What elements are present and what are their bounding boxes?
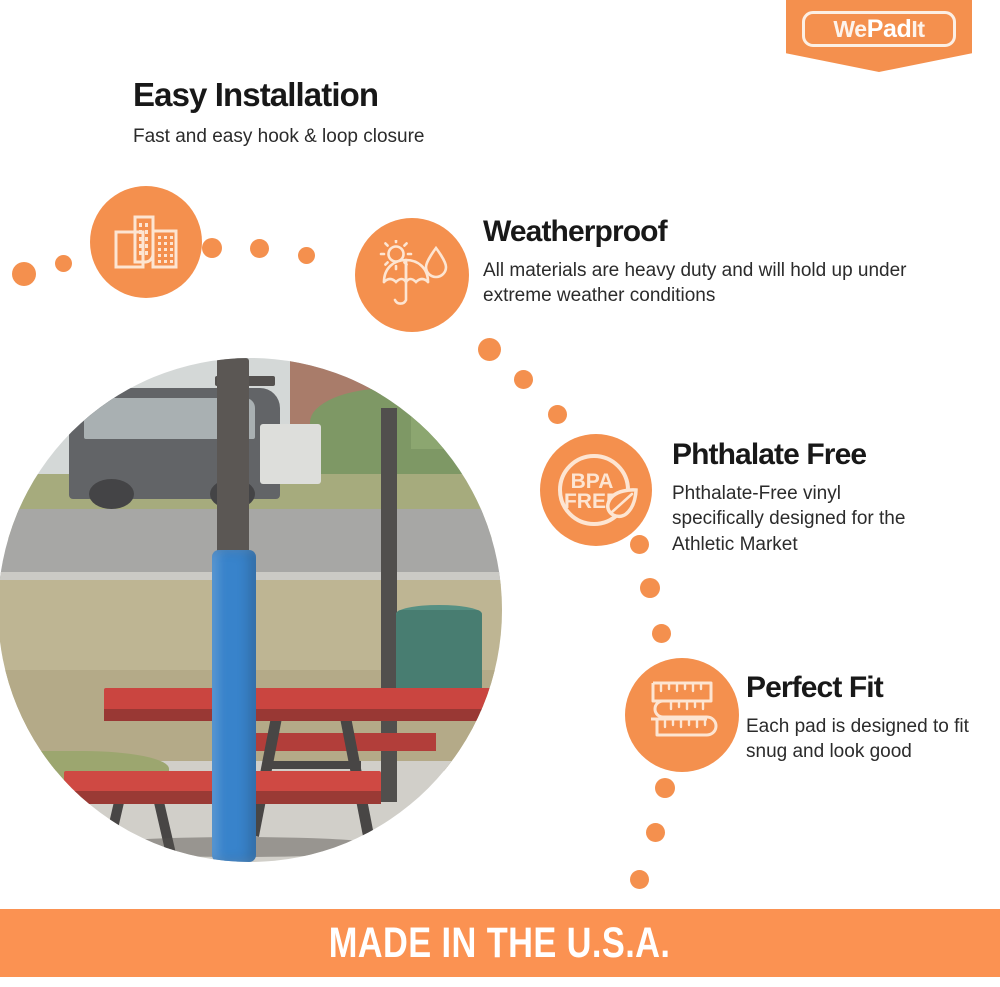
trail-dot bbox=[55, 255, 72, 272]
feature-body-weatherproof: All materials are heavy duty and will ho… bbox=[483, 258, 913, 309]
logo-wordmark: WePadIt bbox=[833, 17, 924, 42]
feature-icon-circle-weatherproof bbox=[355, 218, 469, 332]
trail-dot bbox=[655, 778, 675, 798]
trail-dot bbox=[548, 405, 567, 424]
feature-body-phthalate-free: Phthalate-Free vinyl specifically design… bbox=[672, 481, 937, 557]
infographic-page: WePadIt Easy Installation Fast and easy … bbox=[0, 0, 1000, 987]
trail-dot bbox=[202, 238, 222, 258]
trail-dot bbox=[652, 624, 671, 643]
trail-dot bbox=[630, 870, 649, 889]
sun-umbrella-raindrop-icon bbox=[376, 240, 448, 310]
feature-body-easy-installation: Fast and easy hook & loop closure bbox=[133, 124, 553, 149]
logo-text-it: It bbox=[911, 16, 924, 42]
made-in-usa-banner: MADE IN THE U.S.A. bbox=[0, 909, 1000, 977]
hook-and-loop-icon bbox=[113, 214, 179, 270]
feature-icon-circle-perfect-fit bbox=[625, 658, 739, 772]
trail-dot bbox=[250, 239, 269, 258]
trail-dot bbox=[514, 370, 533, 389]
product-photo bbox=[0, 358, 502, 862]
feature-body-perfect-fit: Each pad is designed to fit snug and loo… bbox=[746, 714, 981, 765]
logo-text-pad: Pad bbox=[867, 15, 912, 43]
feature-icon-circle-phthalate-free: BPA FREE bbox=[540, 434, 652, 546]
feature-title-weatherproof: Weatherproof bbox=[483, 216, 667, 247]
feature-title-easy-installation: Easy Installation bbox=[133, 78, 378, 112]
made-in-usa-text: MADE IN THE U.S.A. bbox=[329, 919, 671, 968]
feature-icon-circle-easy-installation bbox=[90, 186, 202, 298]
bpa-free-leaf-icon: BPA FREE bbox=[550, 444, 642, 536]
logo-text-we: We bbox=[833, 16, 866, 42]
trail-dot bbox=[630, 535, 649, 554]
logo-plate: WePadIt bbox=[802, 11, 956, 47]
photo-haze-overlay bbox=[0, 358, 502, 862]
feature-title-perfect-fit: Perfect Fit bbox=[746, 672, 883, 703]
feature-title-phthalate-free: Phthalate Free bbox=[672, 439, 866, 470]
trail-dot bbox=[640, 578, 660, 598]
trail-dot bbox=[298, 247, 315, 264]
trail-dot bbox=[646, 823, 665, 842]
trail-dot bbox=[12, 262, 36, 286]
measuring-tape-icon bbox=[641, 675, 723, 755]
brand-logo[interactable]: WePadIt bbox=[786, 0, 972, 72]
